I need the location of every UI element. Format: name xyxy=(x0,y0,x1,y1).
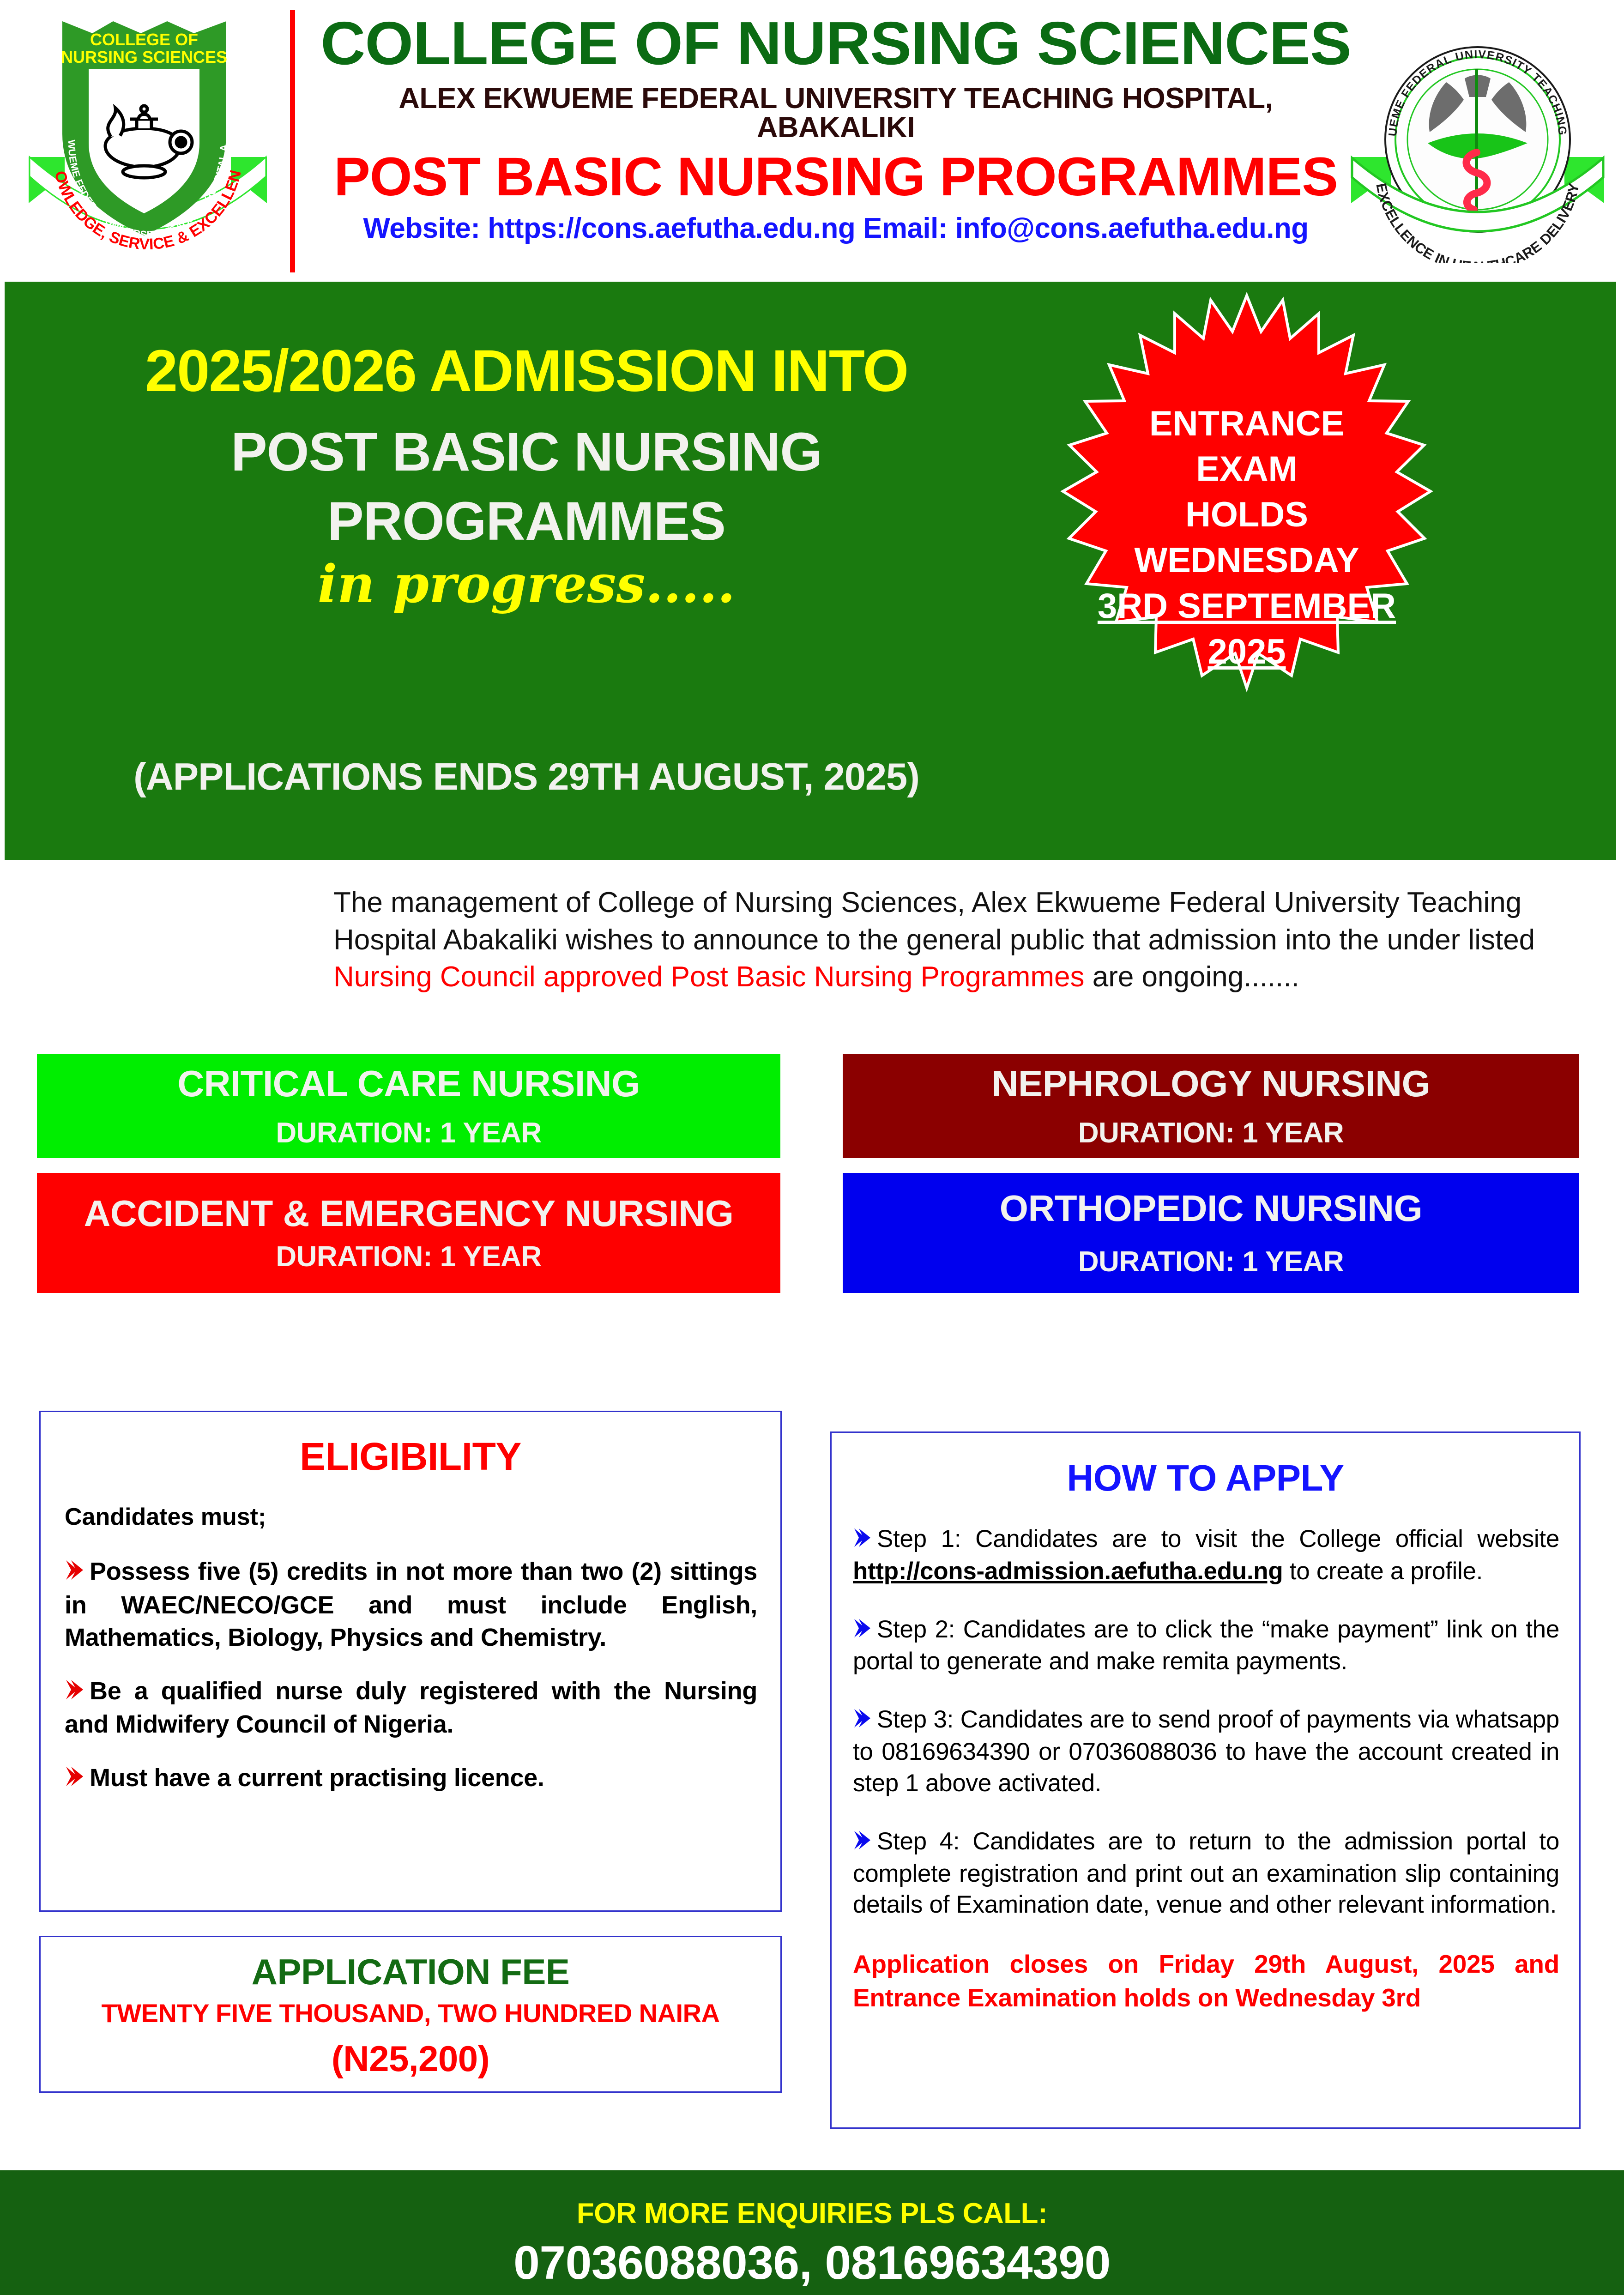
starburst-text-block: ENTRANCE EXAM HOLDS WEDNESDAY 3RD SEPTEM… xyxy=(1000,291,1494,785)
programme-card-critical-care[interactable]: CRITICAL CARE NURSING DURATION: 1 YEAR xyxy=(37,1054,780,1158)
eligibility-item: Must have a current practising licence. xyxy=(65,1762,757,1795)
apply-step-text: Step 4: Candidates are to return to the … xyxy=(853,1828,1559,1919)
intro-highlight: Nursing Council approved Post Basic Nurs… xyxy=(333,961,1084,993)
apply-step: Step 1: Candidates are to visit the Coll… xyxy=(853,1523,1559,1587)
eligibility-body: Candidates must; Possess five (5) credit… xyxy=(65,1503,757,1817)
programme-duration: DURATION: 1 YEAR xyxy=(1078,1248,1344,1276)
badge-line-2: EXAM xyxy=(1196,447,1298,492)
enquiries-phone-numbers[interactable]: 07036088036, 08169634390 xyxy=(0,2236,1624,2290)
eligibility-item-text: Possess five (5) credits in not more tha… xyxy=(65,1558,757,1651)
exam-date-starburst-badge: ENTRANCE EXAM HOLDS WEDNESDAY 3RD SEPTEM… xyxy=(1000,291,1494,785)
eligibility-panel: ELIGIBILITY Candidates must; Possess fiv… xyxy=(39,1411,782,1912)
header-red-divider xyxy=(290,10,295,272)
contact-line: Website: https://cons.aefutha.edu.ng Ema… xyxy=(323,214,1348,243)
blue-arrow-bullet-icon xyxy=(853,1615,872,1646)
badge-line-1: ENTRANCE xyxy=(1149,401,1344,447)
red-arrow-bullet-icon xyxy=(65,1763,85,1795)
how-to-apply-panel: HOW TO APPLY Step 1: Candidates are to v… xyxy=(830,1431,1581,2129)
application-fee-title: APPLICATION FEE xyxy=(41,1951,780,1993)
apply-step: Step 2: Candidates are to click the “mak… xyxy=(853,1614,1559,1678)
programme-name: NEPHROLOGY NURSING xyxy=(992,1065,1431,1103)
programme-card-nephrology[interactable]: NEPHROLOGY NURSING DURATION: 1 YEAR xyxy=(843,1054,1579,1158)
programme-card-accident-emergency[interactable]: ACCIDENT & EMERGENCY NURSING DURATION: 1… xyxy=(37,1173,780,1293)
banner-programme-line-1: POST BASIC NURSING xyxy=(51,425,1002,479)
red-arrow-bullet-icon xyxy=(65,1676,85,1708)
badge-line-5: 3RD SEPTEMBER xyxy=(1098,584,1396,629)
enquiries-label: FOR MORE ENQUIRIES PLS CALL: xyxy=(0,2197,1624,2230)
apply-step: Step 4: Candidates are to return to the … xyxy=(853,1826,1559,1921)
banner-session-line: 2025/2026 ADMISSION INTO xyxy=(51,342,1002,401)
apply-step-text: Step 1: Candidates are to visit the Coll… xyxy=(877,1525,1559,1552)
svg-text:NURSING SCIENCES: NURSING SCIENCES xyxy=(61,48,227,66)
eligibility-item: Possess five (5) credits in not more tha… xyxy=(65,1555,757,1654)
parent-institution-name: ALEX EKWUEME FEDERAL UNIVERSITY TEACHING… xyxy=(323,84,1348,142)
header-title-block: COLLEGE OF NURSING SCIENCES ALEX EKWUEME… xyxy=(323,13,1348,248)
college-crest-logo: COLLEGE OF NURSING SCIENCES ALEX EKWUEME… xyxy=(18,5,277,268)
eligibility-title: ELIGIBILITY xyxy=(41,1434,780,1479)
how-to-apply-body: Step 1: Candidates are to visit the Coll… xyxy=(853,1523,1559,2014)
eligibility-item-text: Be a qualified nurse duly registered wit… xyxy=(65,1677,757,1738)
apply-step-text: Step 3: Candidates are to send proof of … xyxy=(853,1706,1559,1797)
banner-status-script: in progress..... xyxy=(51,559,1002,610)
programme-name: CRITICAL CARE NURSING xyxy=(177,1065,640,1103)
eligibility-lead: Candidates must; xyxy=(65,1503,757,1531)
banner-programme-line-2: PROGRAMMES xyxy=(51,494,1002,549)
blue-arrow-bullet-icon xyxy=(853,1524,872,1556)
eligibility-item-text: Must have a current practising licence. xyxy=(90,1764,544,1792)
programme-duration: DURATION: 1 YEAR xyxy=(276,1119,541,1147)
apply-step: Step 3: Candidates are to send proof of … xyxy=(853,1704,1559,1799)
page-footer: FOR MORE ENQUIRIES PLS CALL: 07036088036… xyxy=(0,2170,1624,2295)
programme-card-orthopedic[interactable]: ORTHOPEDIC NURSING DURATION: 1 YEAR xyxy=(843,1173,1579,1293)
programme-duration: DURATION: 1 YEAR xyxy=(276,1243,541,1271)
apply-step-text: Step 2: Candidates are to click the “mak… xyxy=(853,1616,1559,1675)
application-fee-amount: (N25,200) xyxy=(41,2038,780,2080)
programme-headline: POST BASIC NURSING PROGRAMMES xyxy=(323,150,1348,204)
admission-portal-url[interactable]: http://cons-admission.aefutha.edu.ng xyxy=(853,1558,1283,1585)
apply-step-text-tail: to create a profile. xyxy=(1283,1558,1483,1585)
how-to-apply-title: HOW TO APPLY xyxy=(832,1457,1579,1499)
intro-text-part-1: The management of College of Nursing Sci… xyxy=(333,887,1535,956)
programme-name: ORTHOPEDIC NURSING xyxy=(1000,1190,1423,1227)
institution-name: COLLEGE OF NURSING SCIENCES xyxy=(313,13,1358,74)
programme-duration: DURATION: 1 YEAR xyxy=(1078,1119,1344,1147)
programme-name: ACCIDENT & EMERGENCY NURSING xyxy=(84,1195,734,1232)
eligibility-item: Be a qualified nurse duly registered wit… xyxy=(65,1675,757,1740)
blue-arrow-bullet-icon xyxy=(853,1827,872,1858)
application-fee-panel: APPLICATION FEE TWENTY FIVE THOUSAND, TW… xyxy=(39,1936,782,2093)
hospital-seal-logo: ALEX EKWUEME FEDERAL UNIVERSITY TEACHING… xyxy=(1348,5,1607,263)
banner-text-block: 2025/2026 ADMISSION INTO POST BASIC NURS… xyxy=(32,282,1011,860)
banner-deadline-line: (APPLICATIONS ENDS 29TH AUGUST, 2025) xyxy=(42,757,1011,796)
intro-text-part-2: are ongoing....... xyxy=(1084,961,1299,993)
blue-arrow-bullet-icon xyxy=(853,1705,872,1736)
announcement-paragraph: The management of College of Nursing Sci… xyxy=(333,884,1571,996)
red-arrow-bullet-icon xyxy=(65,1556,85,1588)
application-closing-note: Application closes on Friday 29th August… xyxy=(853,1947,1559,2014)
application-fee-in-words: TWENTY FIVE THOUSAND, TWO HUNDRED NAIRA xyxy=(41,1998,780,2028)
page-header: COLLEGE OF NURSING SCIENCES ALEX EKWUEME… xyxy=(0,0,1624,282)
badge-line-6: 2025 xyxy=(1207,629,1286,675)
badge-line-3: HOLDS xyxy=(1185,492,1308,538)
svg-text:COLLEGE OF: COLLEGE OF xyxy=(90,30,198,49)
badge-line-4: WEDNESDAY xyxy=(1134,538,1359,584)
